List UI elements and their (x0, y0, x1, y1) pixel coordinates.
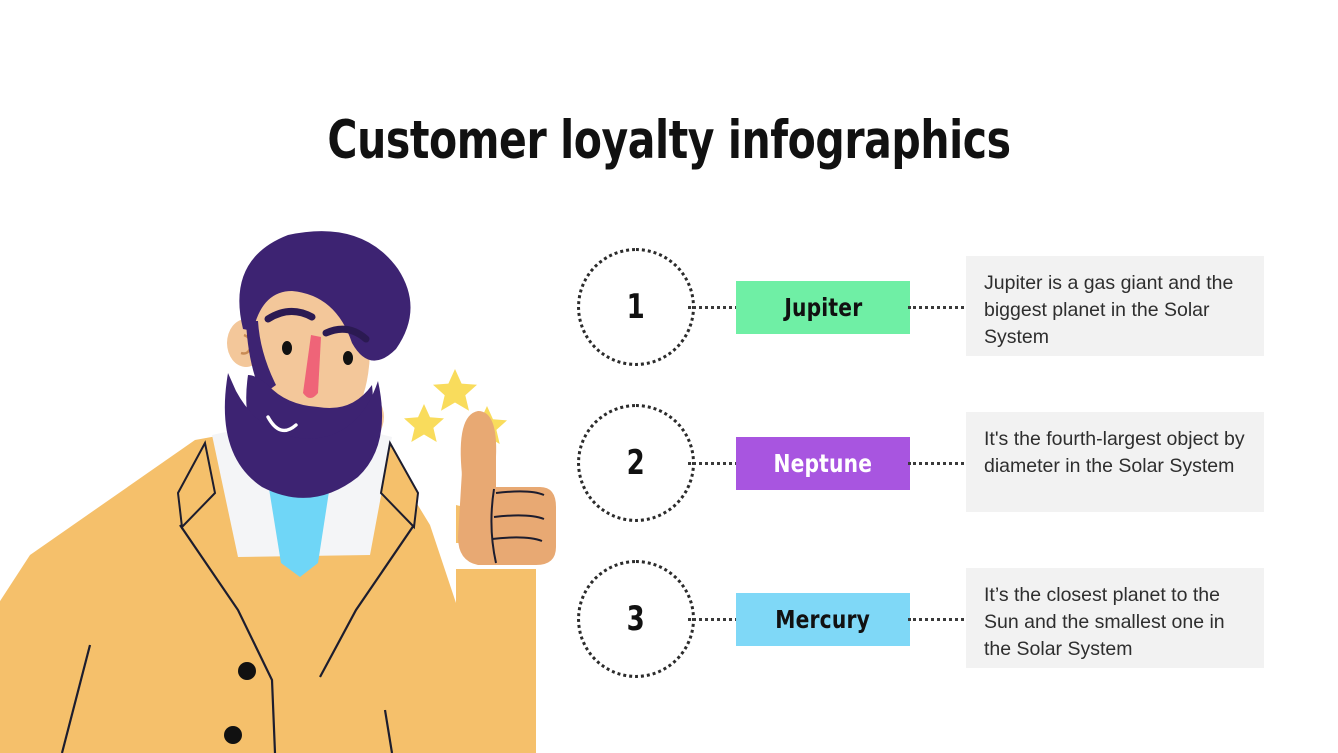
planet-badge-label: Jupiter (784, 293, 862, 322)
planet-badge-label: Mercury (776, 605, 871, 634)
step-number-circle: 3 (577, 560, 695, 678)
thumb-shape (461, 411, 496, 491)
connector-circle-to-badge (688, 462, 738, 465)
jacket-button-top (238, 662, 256, 680)
page-title: Customer loyalty infographics (94, 110, 1245, 171)
info-row: 1 Jupiter Jupiter is a gas giant and the… (575, 245, 1275, 370)
description-text: It’s the closest planet to the Sun and t… (984, 582, 1246, 663)
eye-right (343, 351, 353, 365)
slide-canvas: Customer loyalty infographics (0, 0, 1338, 753)
connector-badge-to-description (908, 306, 970, 309)
description-text: Jupiter is a gas giant and the biggest p… (984, 270, 1246, 351)
star-left (404, 404, 444, 442)
info-row: 3 Mercury It’s the closest planet to the… (575, 557, 1275, 682)
planet-badge-jupiter[interactable]: Jupiter (736, 281, 910, 334)
connector-circle-to-badge (688, 306, 738, 309)
eye-left (282, 341, 292, 355)
connector-circle-to-badge (688, 618, 738, 621)
description-box: It’s the closest planet to the Sun and t… (966, 568, 1264, 668)
step-number-circle: 2 (577, 404, 695, 522)
connector-badge-to-description (908, 462, 970, 465)
businessman-thumbs-up-illustration (0, 225, 560, 753)
planet-badge-label: Neptune (774, 449, 873, 478)
jacket-button-bottom (224, 726, 242, 744)
description-text: It's the fourth-largest object by diamet… (984, 426, 1246, 480)
step-number-label: 3 (627, 602, 645, 636)
description-box: Jupiter is a gas giant and the biggest p… (966, 256, 1264, 356)
step-number-label: 1 (627, 290, 645, 324)
planet-badge-neptune[interactable]: Neptune (736, 437, 910, 490)
planet-badge-mercury[interactable]: Mercury (736, 593, 910, 646)
description-box: It's the fourth-largest object by diamet… (966, 412, 1264, 512)
info-row: 2 Neptune It's the fourth-largest object… (575, 401, 1275, 526)
star-top (433, 369, 477, 411)
step-number-circle: 1 (577, 248, 695, 366)
connector-badge-to-description (908, 618, 970, 621)
step-number-label: 2 (627, 446, 645, 480)
